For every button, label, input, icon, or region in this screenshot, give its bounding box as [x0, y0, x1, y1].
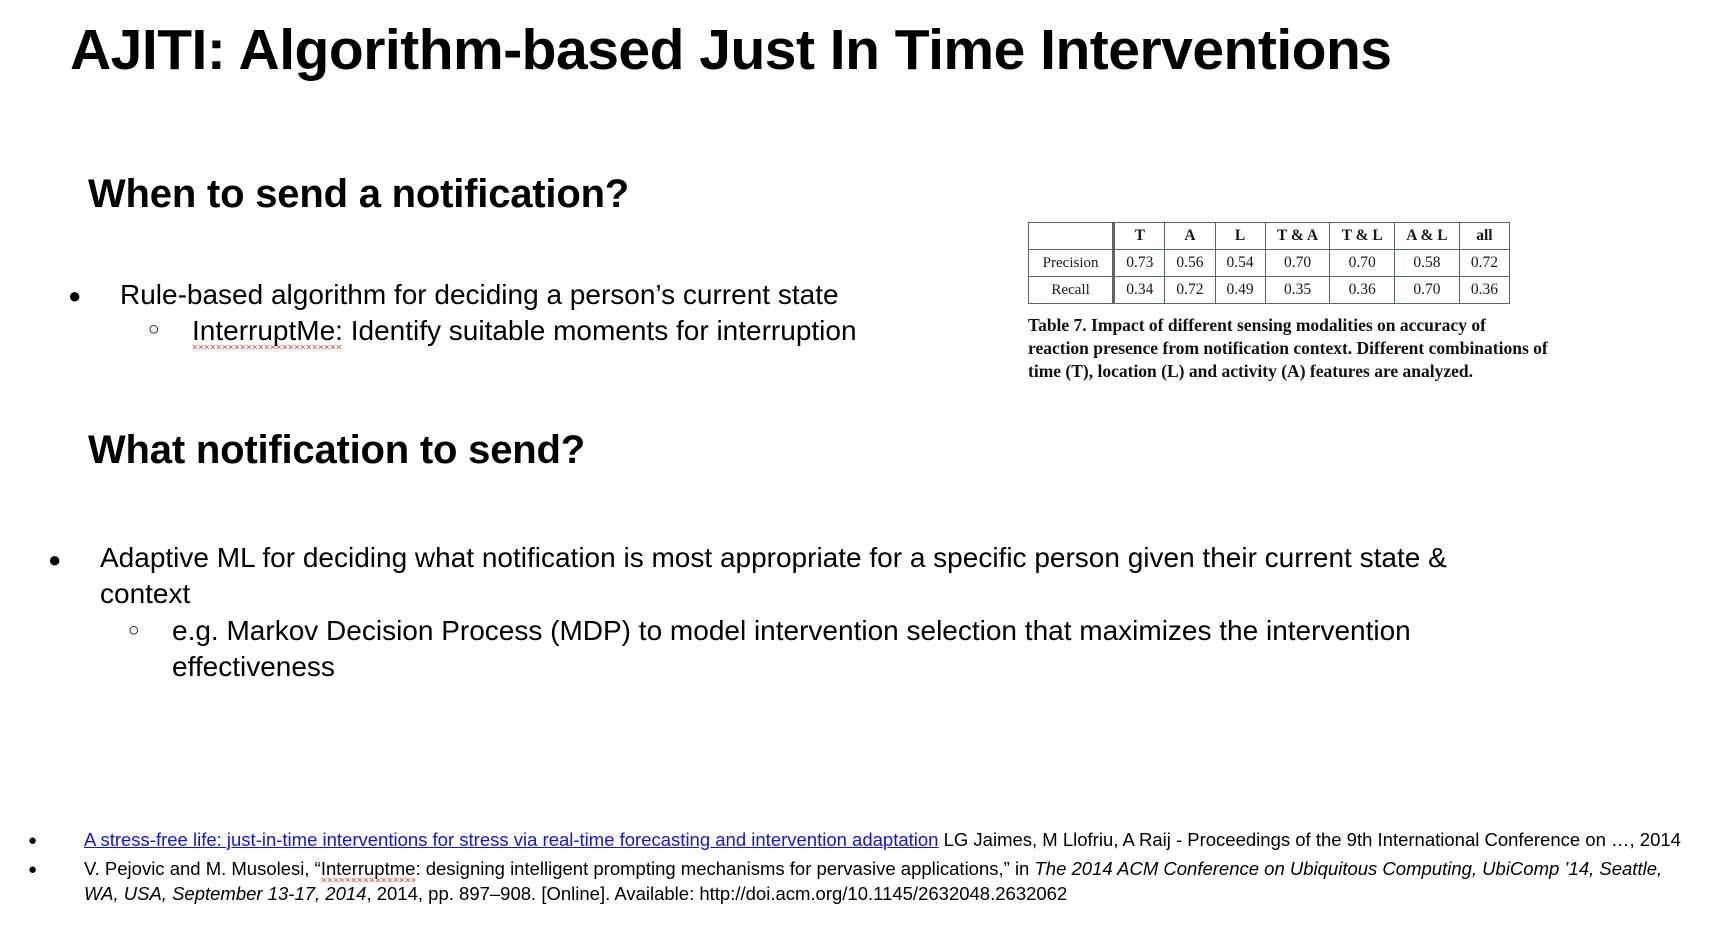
- reference-text: A stress-free life: just-in-time interve…: [84, 828, 1681, 853]
- table-col-header: T & L: [1330, 223, 1395, 250]
- bullet-adaptive-ml: ● Adaptive ML for deciding what notifica…: [48, 540, 1468, 613]
- reference-item-2: ● V. Pejovic and M. Musolesi, “Interrupt…: [28, 857, 1688, 907]
- results-table: T A L T & A T & L A & L all Precision 0.…: [1028, 222, 1510, 304]
- table-cell: 0.34: [1114, 277, 1165, 304]
- sub-bullet-text-rest: Identify suitable moments for interrupti…: [343, 315, 857, 346]
- table-cell: 0.73: [1114, 250, 1165, 277]
- table-header-row: T A L T & A T & L A & L all: [1029, 223, 1510, 250]
- bullet-marker-icon: ●: [28, 828, 84, 853]
- page-title: AJITI: Algorithm-based Just In Time Inte…: [70, 18, 1660, 84]
- bullet-text: Adaptive ML for deciding what notificati…: [100, 540, 1468, 613]
- table-cell: 0.35: [1265, 277, 1330, 304]
- table-col-header: A & L: [1395, 223, 1460, 250]
- table-col-header: T: [1114, 223, 1165, 250]
- table-cell: 0.72: [1165, 277, 1215, 304]
- table-cell: 0.70: [1265, 250, 1330, 277]
- slide-canvas: AJITI: Algorithm-based Just In Time Inte…: [0, 0, 1720, 940]
- table-row: Precision 0.73 0.56 0.54 0.70 0.70 0.58 …: [1029, 250, 1510, 277]
- reference-pages-doi: , 2014, pp. 897–908. [Online]. Available…: [366, 883, 1067, 904]
- sub-bullet-text: InterruptMe: Identify suitable moments f…: [192, 313, 857, 349]
- sub-bullet-marker-icon: ○: [148, 313, 192, 344]
- spellcheck-underlined-word: InterruptMe:: [192, 315, 343, 349]
- sub-bullet-marker-icon: ○: [128, 613, 172, 645]
- table-row: Recall 0.34 0.72 0.49 0.35 0.36 0.70 0.3…: [1029, 277, 1510, 304]
- references-list: ● A stress-free life: just-in-time inter…: [28, 828, 1688, 910]
- table-cell: 0.56: [1165, 250, 1215, 277]
- table-cell: 0.70: [1395, 277, 1460, 304]
- figure-table7: T A L T & A T & L A & L all Precision 0.…: [1028, 222, 1548, 383]
- reference-item-1: ● A stress-free life: just-in-time inter…: [28, 828, 1688, 853]
- reference-authors: V. Pejovic and M. Musolesi, “: [84, 858, 321, 879]
- bullet-mdp: ○ e.g. Markov Decision Process (MDP) to …: [128, 613, 1468, 686]
- table-cell: 0.72: [1459, 250, 1509, 277]
- table-col-header: A: [1165, 223, 1215, 250]
- reference-hyperlink[interactable]: A stress-free life: just-in-time interve…: [84, 829, 938, 850]
- bullet-marker-icon: ●: [48, 540, 100, 575]
- table-row-label: Recall: [1029, 277, 1114, 304]
- bullet-marker-icon: ●: [28, 857, 84, 882]
- table-row-label: Precision: [1029, 250, 1114, 277]
- table-cell: 0.54: [1215, 250, 1265, 277]
- table-col-header: T & A: [1265, 223, 1330, 250]
- bullet-rule-based: ● Rule-based algorithm for deciding a pe…: [68, 277, 1028, 313]
- table-col-header: L: [1215, 223, 1265, 250]
- bullet-interruptme: ○ InterruptMe: Identify suitable moments…: [148, 313, 1048, 349]
- section-heading-when: When to send a notification?: [88, 172, 629, 217]
- spellcheck-underlined-word: Interruptme: [321, 858, 416, 882]
- table-col-header: all: [1459, 223, 1509, 250]
- reference-citation-rest: LG Jaimes, M Llofriu, A Raij - Proceedin…: [938, 829, 1680, 850]
- table-cell: 0.49: [1215, 277, 1265, 304]
- figure-caption: Table 7. Impact of different sensing mod…: [1028, 314, 1548, 383]
- table-cell: 0.70: [1330, 250, 1395, 277]
- reference-title: : designing intelligent prompting mechan…: [415, 858, 1034, 879]
- bullet-text: Rule-based algorithm for deciding a pers…: [120, 277, 839, 313]
- section-heading-what: What notification to send?: [88, 428, 585, 473]
- table-cell: 0.36: [1330, 277, 1395, 304]
- reference-text: V. Pejovic and M. Musolesi, “Interruptme…: [84, 857, 1688, 907]
- table-corner-cell: [1029, 223, 1114, 250]
- sub-bullet-text: e.g. Markov Decision Process (MDP) to mo…: [172, 613, 1468, 686]
- table-cell: 0.36: [1459, 277, 1509, 304]
- table-cell: 0.58: [1395, 250, 1460, 277]
- bullet-marker-icon: ●: [68, 277, 120, 311]
